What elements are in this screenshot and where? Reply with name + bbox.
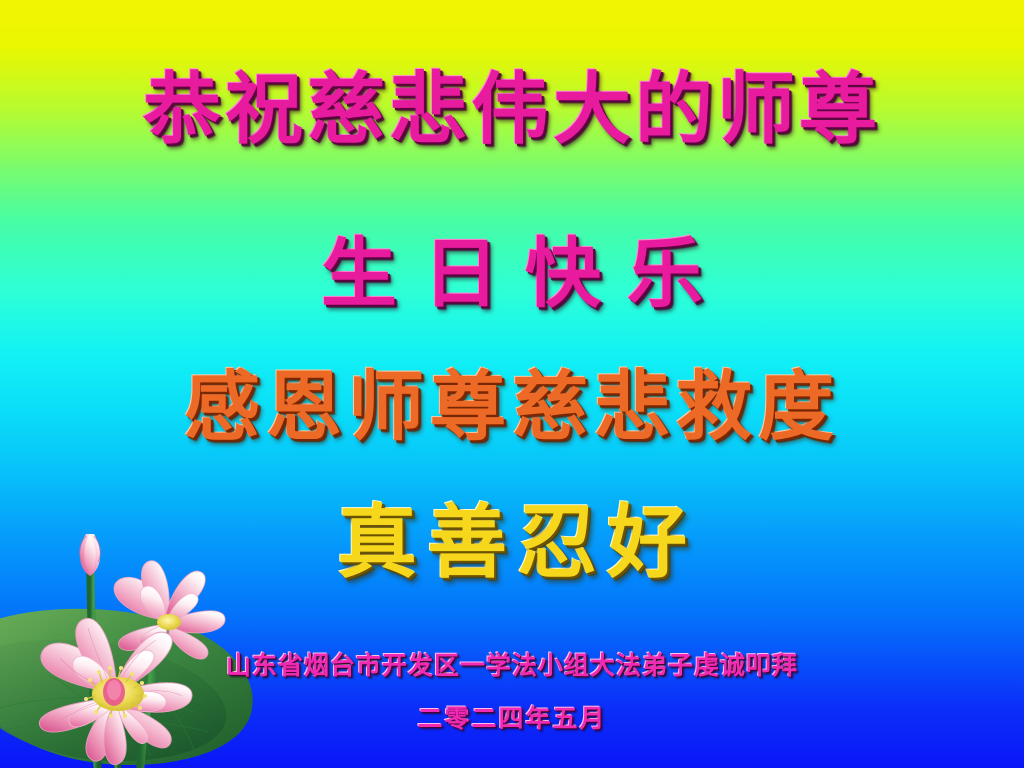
gratitude-line: 感恩师尊慈悲救度 (0, 345, 1024, 455)
greeting-poster: 恭祝慈悲伟大的师尊 生日快乐 感恩师尊慈悲救度 真善忍好 山东省烟台市开发区一学… (0, 0, 1024, 768)
text-layer: 恭祝慈悲伟大的师尊 生日快乐 感恩师尊慈悲救度 真善忍好 山东省烟台市开发区一学… (0, 0, 1024, 768)
date-line: 二零二四年五月 (0, 699, 1024, 735)
motto-line: 真善忍好 (0, 478, 1024, 594)
birthday-line: 生日快乐 (0, 212, 1024, 322)
greeting-line: 恭祝慈悲伟大的师尊 (0, 47, 1024, 159)
signature-line: 山东省烟台市开发区一学法小组大法弟子虔诚叩拜 (0, 646, 1024, 682)
